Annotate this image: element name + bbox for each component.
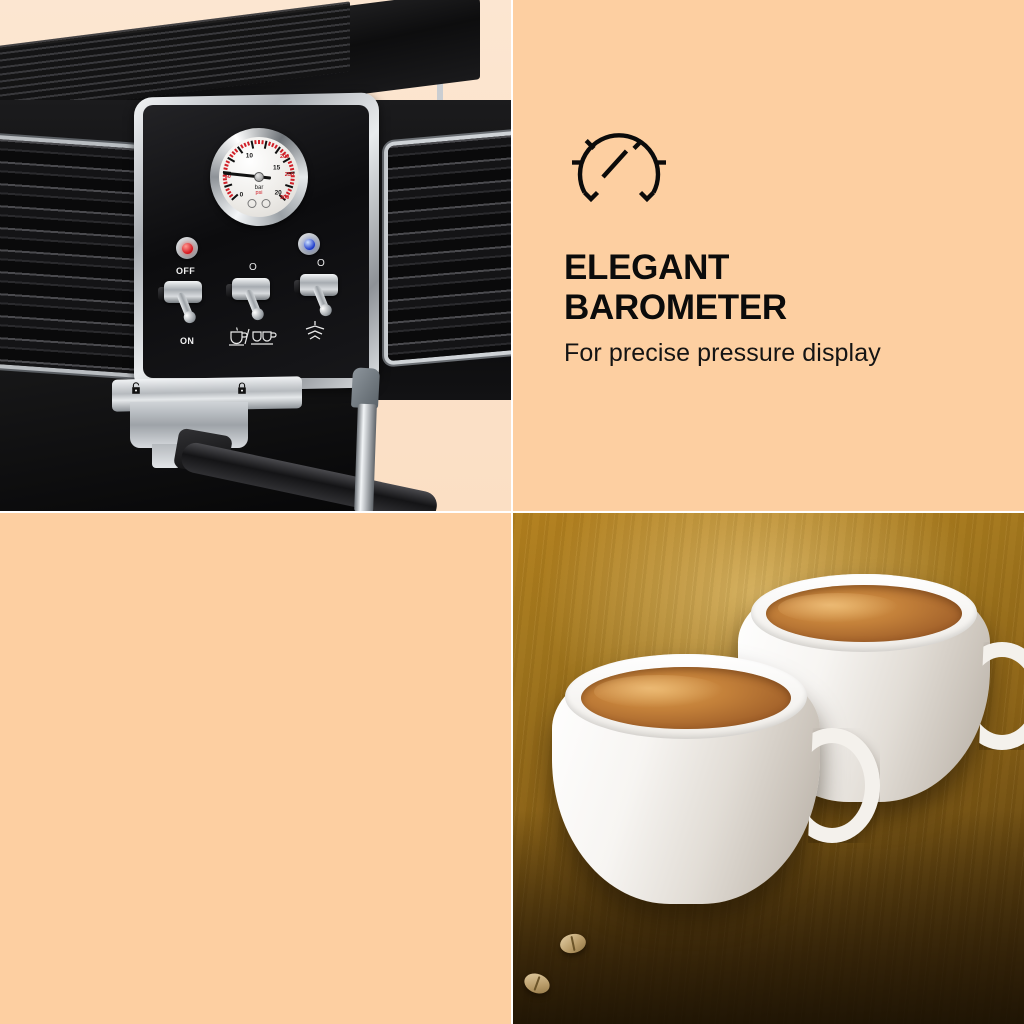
steam-icon bbox=[300, 320, 330, 344]
power-indicator-lamp bbox=[176, 237, 198, 259]
cups-photo-panel bbox=[512, 512, 1024, 1024]
gauge-tick-15: 15 bbox=[273, 165, 280, 172]
espresso-cup-front bbox=[552, 654, 820, 904]
one-or-two-cups-icon bbox=[228, 326, 278, 346]
gauge-tick bbox=[240, 144, 243, 148]
machine-photo-panel: 10 15 20 0 200 250 300 50 bar psi OFF bbox=[0, 0, 512, 512]
cup-handle bbox=[956, 642, 1024, 750]
gauge-tick bbox=[224, 168, 228, 170]
gauge-tick bbox=[247, 142, 250, 146]
gauge-tick-10: 10 bbox=[246, 153, 253, 160]
gauge-tick bbox=[262, 140, 264, 144]
espresso-crema bbox=[581, 667, 790, 730]
feature-barometer-panel: ELEGANT BAROMETER For precise pressure d… bbox=[512, 0, 1024, 512]
gauge-units: bar psi bbox=[255, 185, 264, 197]
cup-handle bbox=[784, 728, 880, 843]
power-toggle-switch[interactable] bbox=[160, 275, 206, 329]
unlock-icon bbox=[130, 382, 142, 395]
gauge-hub bbox=[254, 172, 264, 182]
pressure-gauge-icon bbox=[564, 118, 674, 210]
feature-title: ELEGANT BAROMETER bbox=[564, 248, 976, 328]
gauge-tick bbox=[290, 168, 294, 170]
steam-wand-tube bbox=[354, 404, 377, 512]
gauge-tick bbox=[225, 164, 229, 167]
gauge-psi-tick-300: 300 bbox=[280, 195, 289, 201]
gauge-tick bbox=[244, 143, 247, 147]
switch-label-on: ON bbox=[180, 336, 194, 346]
panel-divider-horizontal bbox=[0, 511, 1024, 513]
cup-selection-toggle-switch[interactable] bbox=[228, 272, 274, 326]
gauge-unit-psi: psi bbox=[255, 191, 264, 197]
pressure-gauge-face: 10 15 20 0 200 250 300 50 bar psi bbox=[219, 137, 299, 217]
steam-toggle-switch[interactable] bbox=[296, 268, 342, 322]
side-grille-right bbox=[388, 134, 512, 361]
gauge-tick bbox=[224, 182, 228, 184]
gauge-tick bbox=[258, 140, 260, 144]
lock-icon bbox=[236, 382, 248, 395]
steam-indicator-lamp bbox=[298, 233, 320, 255]
gauge-tick bbox=[226, 161, 230, 164]
feature-subtitle: For precise pressure display bbox=[564, 337, 976, 369]
feature-cups-panel: 1 OR 2 CUPS Selectable dispensing quanti… bbox=[0, 512, 512, 1024]
gauge-tick bbox=[291, 179, 295, 181]
gauge-tick bbox=[290, 182, 294, 184]
gauge-tick bbox=[288, 161, 292, 164]
gauge-cert-marks bbox=[248, 199, 271, 208]
gauge-tick bbox=[264, 141, 267, 149]
gauge-tick bbox=[289, 164, 293, 167]
side-grille-left bbox=[0, 134, 150, 374]
steam-wand-grip[interactable] bbox=[351, 367, 380, 408]
gauge-tick-0: 0 bbox=[240, 191, 244, 198]
gauge-tick bbox=[285, 184, 293, 188]
feature-collage: 10 15 20 0 200 250 300 50 bar psi OFF bbox=[0, 0, 1024, 1024]
gauge-psi-tick-250: 250 bbox=[285, 172, 294, 178]
gauge-tick bbox=[229, 154, 233, 158]
gauge-tick bbox=[254, 140, 256, 144]
gauge-tick bbox=[288, 188, 292, 191]
gauge-psi-tick-200: 200 bbox=[280, 154, 289, 160]
pressure-gauge: 10 15 20 0 200 250 300 50 bar psi bbox=[210, 128, 308, 226]
